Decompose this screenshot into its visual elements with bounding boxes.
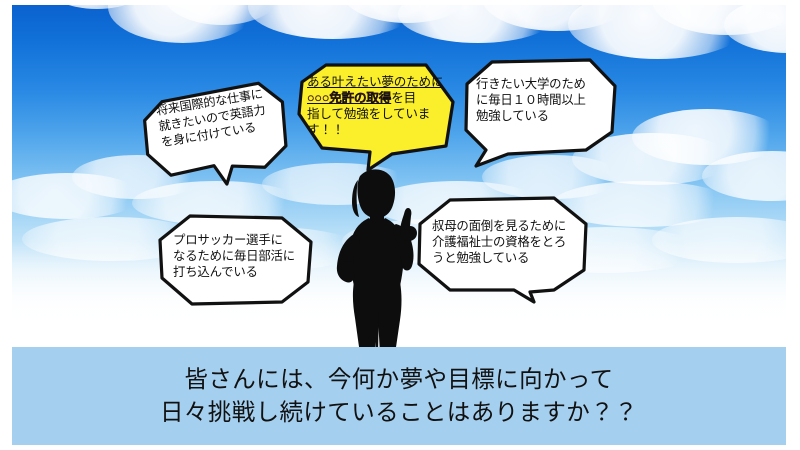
speech-bubble-career: 将来国際的な仕事に 就きたいので英語力 を身に付けている xyxy=(142,88,292,188)
speech-bubble-care: 叔母の面倒を見るために 介護福祉士の資格をとろ うと勉強している xyxy=(414,196,590,302)
bubble-dream-line1: ある叶えたい夢のために xyxy=(307,75,443,89)
slide-canvas: 将来国際的な仕事に 就きたいので英語力 を身に付けている ある叶えたい夢のために… xyxy=(0,0,800,450)
caption-line-2: 日々挑戦し続けていることはありますか？？ xyxy=(160,396,638,429)
bubble-dream-line2-tail: を目 xyxy=(391,91,416,105)
bubble-university-text: 行きたい大学のため に毎日１０時間以上 勉強している xyxy=(476,76,608,124)
bubble-soccer-text: プロサッカー選手に なるために毎日部活に 打ち込んでいる xyxy=(173,232,307,280)
speech-bubble-dream: ある叶えたい夢のために○○○免許の取得を目指して勉強をしています！！ xyxy=(296,62,456,170)
bubble-dream-text: ある叶えたい夢のために○○○免許の取得を目指して勉強をしています！！ xyxy=(307,75,449,138)
caption-line-1: 皆さんには、今何か夢や目標に向かって xyxy=(184,363,613,396)
bubble-dream-line4: す！！ xyxy=(307,123,344,137)
bubble-dream-accent: ○○○免許の取得 xyxy=(307,91,391,105)
speech-bubble-university: 行きたい大学のため に毎日１０時間以上 勉強している xyxy=(462,58,618,166)
speech-bubble-soccer: プロサッカー選手に なるために毎日部活に 打ち込んでいる xyxy=(156,212,316,312)
bubble-dream-line3: 指して勉強をしていま xyxy=(307,107,430,121)
caption-bar: 皆さんには、今何か夢や目標に向かって 日々挑戦し続けていることはありますか？？ xyxy=(12,347,786,445)
bubble-care-text: 叔母の面倒を見るために 介護福祉士の資格をとろ うと勉強している xyxy=(432,218,578,266)
